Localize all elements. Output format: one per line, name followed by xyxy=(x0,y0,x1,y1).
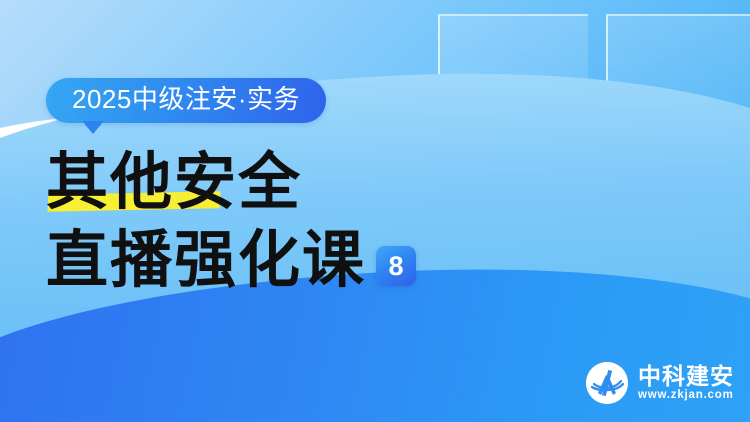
badge-label: 2025中级注安·实务 xyxy=(72,86,300,113)
brand-logo[interactable]: 中科建安 www.zkjan.com xyxy=(586,362,734,404)
episode-number-badge: 8 xyxy=(376,246,416,286)
logo-text-group: 中科建安 www.zkjan.com xyxy=(638,365,734,402)
title-line-1: 其他安全 xyxy=(46,152,416,214)
course-banner: 2025中级注安·实务 其他安全 直播强化课 8 xyxy=(0,0,750,422)
badge-tail xyxy=(82,121,104,134)
title-line-2: 直播强化课 8 xyxy=(46,230,416,292)
title-line-1-text: 其他安全 xyxy=(46,152,302,214)
course-category-badge: 2025中级注安·实务 xyxy=(46,78,326,123)
logo-brand-name: 中科建安 xyxy=(638,365,734,388)
episode-number-value: 8 xyxy=(389,253,404,280)
badge-pill: 2025中级注安·实务 xyxy=(46,78,326,123)
zkjan-circle-logo-icon xyxy=(586,362,628,404)
banner-title: 其他安全 直播强化课 8 xyxy=(46,152,416,292)
logo-website-url: www.zkjan.com xyxy=(638,390,734,402)
title-line-2-text: 直播强化课 xyxy=(46,230,366,292)
